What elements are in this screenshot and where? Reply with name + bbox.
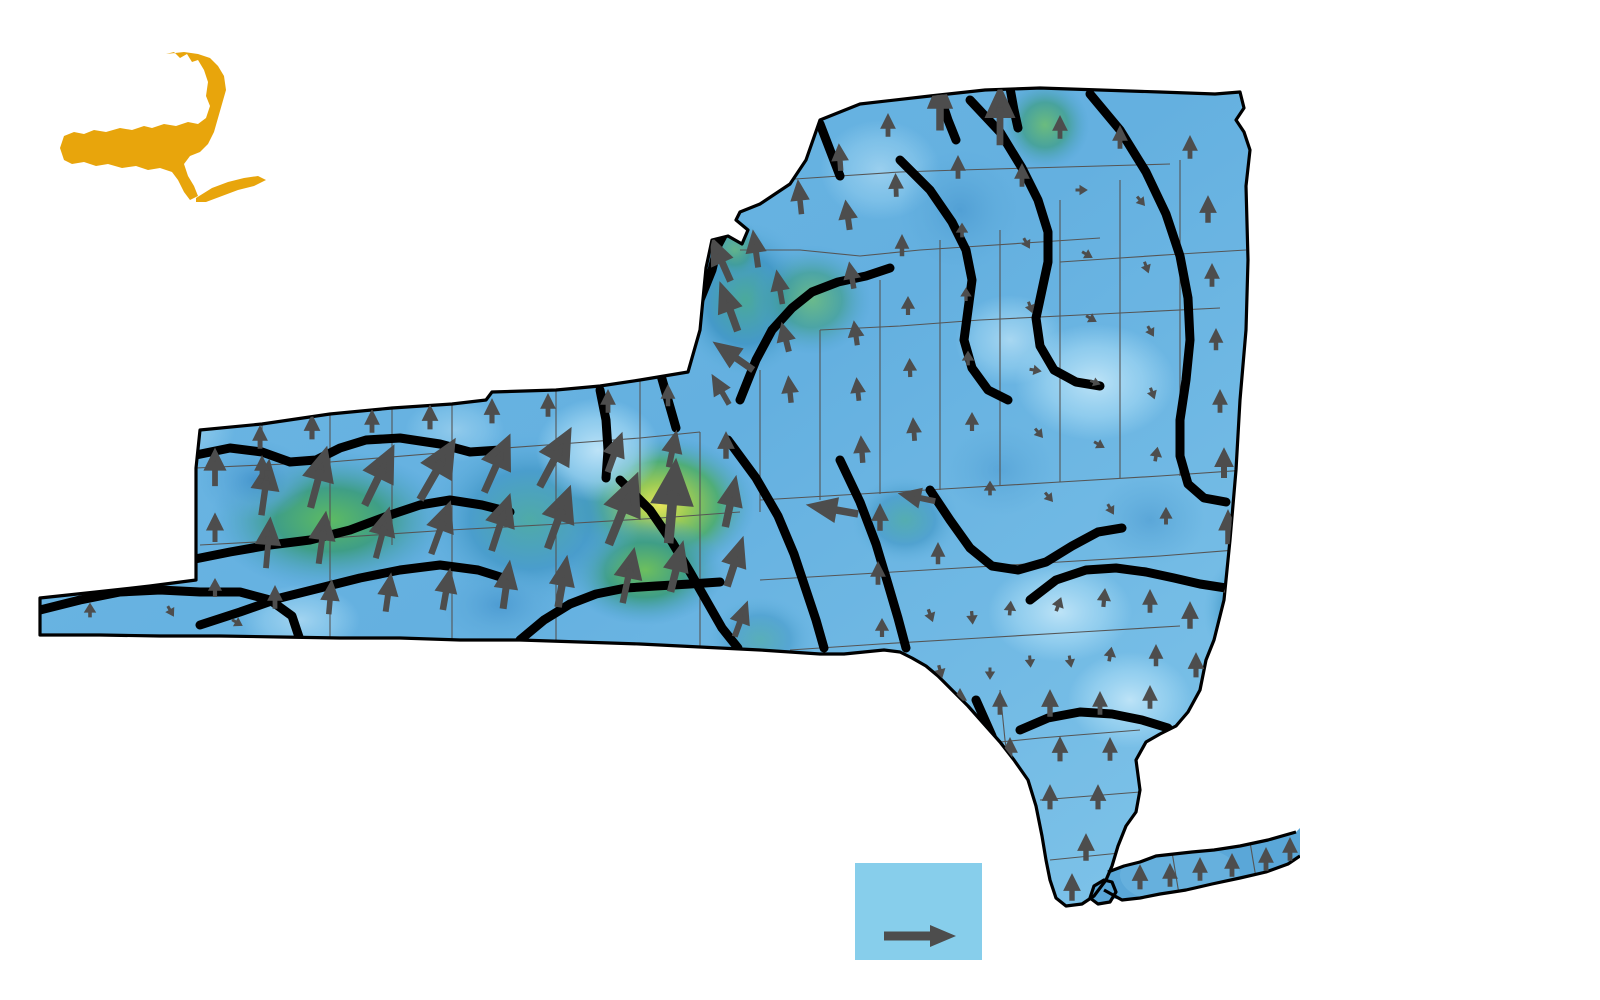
weather-map [0, 0, 1300, 960]
colorbar [1341, 176, 1407, 650]
wind-reference-arrow-icon [882, 921, 960, 951]
figure-captions [47, 718, 847, 750]
new-york-state-map-svg [0, 0, 1300, 960]
colorbar-gradient [1341, 176, 1407, 650]
wind-reference-legend [855, 863, 982, 960]
colorbar-tick-labels [1422, 150, 1492, 680]
